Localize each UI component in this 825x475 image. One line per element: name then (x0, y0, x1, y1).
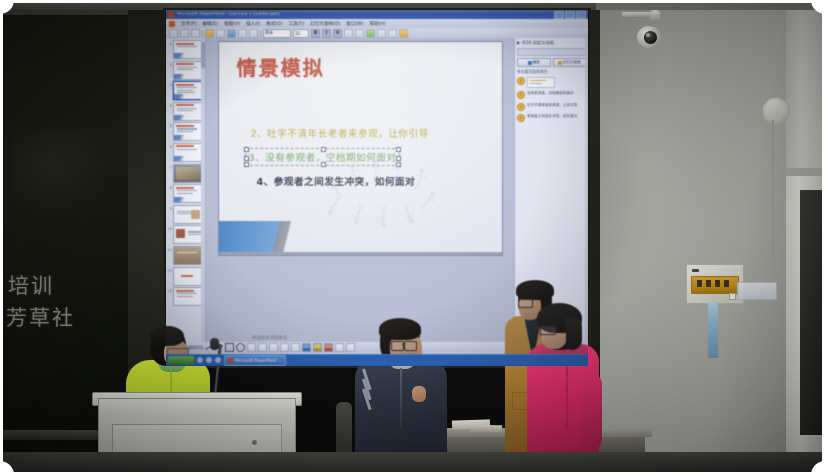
thumbnail-number: 2 (167, 61, 172, 68)
thumbnail-item[interactable]: 6 (167, 143, 204, 162)
thumbnail-item[interactable]: 13 (167, 287, 204, 306)
quicklaunch-media-icon[interactable] (215, 357, 221, 363)
slideshow-button[interactable]: 幻灯片放映 (553, 58, 587, 67)
thumbnail-image[interactable] (173, 184, 203, 203)
thumbnail-item[interactable]: 10 (167, 225, 204, 244)
glasses-icon (391, 341, 404, 351)
save-icon[interactable] (191, 29, 200, 38)
wall-light-strip (737, 282, 777, 300)
current-slide[interactable]: 情景模拟 2、吐字不清年长老者来参观，让你引导 3、没有参观者，空档期如何面对 (218, 41, 503, 256)
person-navy-jacket-zip (400, 368, 402, 428)
camera-mount-arm (622, 12, 652, 17)
play-icon (528, 61, 532, 65)
chart-icon[interactable] (249, 29, 258, 38)
thumbnail-image[interactable] (173, 164, 203, 183)
thumbnail-item[interactable]: 8 (167, 184, 204, 203)
thumbnail-image[interactable] (173, 122, 203, 141)
thumbnail-scrollbar[interactable] (201, 38, 205, 342)
slide-thumbnail-pane[interactable]: 1 2 3 4 5 (166, 38, 206, 342)
thumbnail-image[interactable] (173, 225, 203, 244)
font-size-combo[interactable]: 32 (293, 29, 309, 38)
line-color-icon[interactable] (313, 343, 322, 352)
menu-window[interactable]: 窗口(W) (346, 21, 363, 27)
breaker-switch (697, 280, 702, 287)
person-navy-jacket-hair (379, 318, 421, 340)
thumbnail-number: 10 (167, 225, 172, 232)
thumbnail-number: 11 (167, 246, 172, 253)
task-pane-title: 4/24 自定义动画 (522, 40, 554, 46)
document-icon (169, 21, 175, 27)
thumbnail-item[interactable]: 9 (167, 205, 204, 224)
shadow-style-icon[interactable] (335, 343, 344, 352)
menu-help[interactable]: 帮助(H) (370, 21, 386, 27)
animation-item-text: 吐字不清老者来参观，让你引导 (527, 103, 577, 108)
glasses-icon (540, 326, 556, 335)
print-icon[interactable] (205, 29, 214, 38)
thumbnail-item[interactable]: 3 (167, 81, 204, 100)
speaker-cone (768, 101, 782, 119)
taskbar-window-label: Microsoft PowerPoint ... (235, 358, 282, 363)
classroom-photo: 培训 芳草社 Microsoft PowerPoint - [service 1… (0, 0, 825, 475)
camera-lens-glint (646, 33, 650, 37)
oval-icon[interactable] (236, 343, 245, 352)
person-tan-coat-hair (516, 280, 554, 300)
ppt-window-title: Microsoft PowerPoint - [service 1 Leader… (177, 12, 280, 17)
task-pane-dropdown[interactable] (517, 48, 586, 56)
breaker-switch (706, 280, 711, 287)
table-icon[interactable] (238, 29, 247, 38)
window-controls[interactable] (554, 11, 586, 19)
animation-order-badge: 1 (517, 77, 525, 85)
font-name-combo[interactable]: 黑体 (263, 29, 291, 38)
task-pane-buttons[interactable]: 播放 幻灯片放映 (517, 58, 586, 67)
thumbnail-number: 4 (167, 102, 172, 109)
quicklaunch-ie-icon[interactable] (197, 357, 203, 363)
thumbnail-item[interactable]: 5 (167, 122, 204, 141)
undo-icon[interactable] (216, 29, 225, 38)
clipart-icon[interactable] (280, 343, 289, 352)
thumbnail-image-selected[interactable] (173, 81, 203, 100)
powerpoint-taskbar-icon (228, 358, 233, 363)
new-slide-icon[interactable] (399, 29, 408, 38)
powerpoint-icon (168, 12, 174, 18)
ceiling-strip (596, 0, 825, 10)
thumbnail-image[interactable] (173, 61, 203, 80)
chalk-text-club: 芳草社 (6, 302, 75, 332)
italic-button[interactable]: I (322, 29, 331, 38)
bullet-item-2[interactable]: 2、吐字不清年长老者来参观，让你引导 (251, 126, 485, 140)
animation-item-text: 参观者之间发生冲突，如何面对 (527, 114, 577, 119)
slide-title[interactable]: 情景模拟 (237, 52, 325, 81)
chevron-left-icon[interactable] (517, 41, 520, 45)
glasses-bridge (402, 344, 405, 345)
menu-format[interactable]: 格式(O) (266, 21, 282, 27)
thumbnail-number: 3 (167, 81, 172, 88)
minimize-button[interactable] (554, 11, 564, 19)
person-navy-jacket-hand (412, 386, 426, 402)
animation-order-badge: 2 (517, 91, 525, 99)
thumbnail-number: 12 (167, 267, 172, 274)
thumbnail-number: 7 (167, 164, 172, 171)
toolbar-separator-2 (260, 30, 261, 37)
thumbnail-image[interactable] (173, 205, 203, 224)
bold-button[interactable]: B (311, 29, 320, 38)
doorway (800, 190, 825, 435)
door-frame-header (786, 168, 825, 176)
underline-button[interactable]: U (333, 29, 342, 38)
menu-edit[interactable]: 编辑(E) (202, 21, 218, 27)
panel-lock-icon (729, 293, 736, 300)
wall-cable-cover (708, 302, 718, 358)
textbox-icon[interactable] (247, 343, 256, 352)
thumbnail-image[interactable] (173, 40, 203, 59)
align-center-icon[interactable] (355, 29, 364, 38)
thumbnail-image[interactable] (173, 287, 203, 306)
person-pink-hoodie-arm (582, 374, 602, 450)
thumbnail-image[interactable] (173, 246, 203, 265)
rectangle-icon[interactable] (225, 343, 234, 352)
breaker-switch (715, 280, 720, 287)
animation-list-label: 单击要添加的项目 (517, 69, 586, 75)
resize-handle-tr[interactable] (396, 147, 401, 152)
restore-button[interactable] (565, 11, 575, 19)
play-button-label: 播放 (533, 60, 540, 65)
chalk-text-training: 培训 (8, 270, 54, 300)
menu-view[interactable]: 视图(V) (224, 21, 240, 27)
glasses-icon (404, 341, 417, 351)
menu-insert[interactable]: 插入(I) (246, 21, 260, 27)
picture-icon[interactable] (291, 343, 300, 352)
scrollbar-thumb[interactable] (201, 42, 205, 68)
animation-list-item[interactable]: 2 没有参观者，空档期如何面对 (517, 91, 586, 99)
bullet-list-icon[interactable] (366, 29, 375, 38)
fill-color-icon[interactable] (302, 343, 311, 352)
taskbar-powerpoint-button[interactable]: Microsoft PowerPoint ... (224, 355, 286, 366)
ppt-titlebar: Microsoft PowerPoint - [service 1 Leader… (166, 10, 588, 19)
thumbnail-item[interactable]: 1 (167, 40, 204, 59)
align-left-icon[interactable] (344, 29, 353, 38)
breaker-switch (724, 280, 729, 287)
thumbnail-number: 1 (167, 40, 172, 47)
thumbnail-item[interactable]: 2 (167, 61, 204, 80)
book (470, 425, 502, 433)
slide-editing-area[interactable]: 情景模拟 2、吐字不清年长老者来参观，让你引导 3、没有参观者，空档期如何面对 (206, 38, 514, 342)
animation-list-item[interactable]: 1 (517, 77, 586, 88)
speaker-conduit (772, 120, 774, 255)
person-lime-jacket-hair (150, 326, 184, 346)
blackboard-frame-top (0, 10, 128, 15)
task-pane-scrollbar[interactable] (585, 38, 588, 342)
slide-design-wedge (219, 221, 369, 255)
chalk-smudge (12, 130, 112, 220)
new-icon[interactable] (169, 29, 178, 38)
play-button[interactable]: 播放 (517, 58, 551, 67)
animation-list-item[interactable]: 4 参观者之间发生冲突，如何面对 (517, 114, 586, 122)
animation-item-text: 没有参观者，空档期如何面对 (527, 91, 574, 96)
thumbnail-item[interactable]: 7 (167, 164, 204, 183)
resize-handle-tl[interactable] (244, 147, 249, 152)
quicklaunch-desktop-icon[interactable] (206, 357, 212, 363)
panel-indicator (692, 269, 699, 272)
animation-list-item[interactable]: 3 吐字不清老者来参观，让你引导 (517, 103, 586, 111)
thumbnail-item[interactable]: 4 (167, 102, 204, 121)
start-button[interactable] (168, 356, 194, 365)
animation-order-badge: 3 (517, 103, 525, 111)
close-button[interactable] (576, 11, 586, 19)
resize-handle-ml[interactable] (244, 156, 249, 161)
slideshow-icon (558, 61, 562, 65)
person-pink-hoodie-seam (566, 360, 568, 430)
animation-preview (527, 77, 555, 88)
redo-icon[interactable] (227, 29, 236, 38)
ppt-toolbar[interactable]: 黑体 32 B I U (166, 28, 588, 38)
font-color-icon[interactable] (324, 343, 333, 352)
animation-order-badge: 4 (517, 114, 525, 122)
open-icon[interactable] (180, 29, 189, 38)
slideshow-button-label: 幻灯片放映 (563, 60, 581, 65)
thumbnail-number: 8 (167, 184, 172, 191)
glasses-icon (518, 299, 533, 308)
people-circle-clipart (323, 160, 443, 226)
menu-slideshow[interactable]: 幻灯片放映(D) (310, 21, 340, 27)
toolbar-separator (202, 30, 203, 37)
notes-placeholder[interactable]: 单击此处添加备注 (252, 335, 287, 341)
thumbnail-item[interactable]: 12 (167, 267, 204, 286)
slide-design-bar (219, 252, 502, 255)
menu-file[interactable]: 文件(F) (181, 21, 196, 27)
microphone-icon (210, 338, 219, 350)
thumbnail-number: 6 (167, 143, 172, 150)
floor (0, 452, 825, 475)
camera-mount-joint (650, 10, 660, 22)
person-pink-hoodie-hair-side (566, 318, 582, 350)
ppt-menubar[interactable]: 文件(F) 编辑(E) 视图(V) 插入(I) 格式(O) 工具(T) 幻灯片放… (166, 19, 588, 28)
3d-style-icon[interactable] (346, 343, 355, 352)
thumbnail-image[interactable] (173, 267, 203, 286)
resize-handle-tc[interactable] (321, 147, 326, 152)
thumbnail-image[interactable] (173, 102, 203, 121)
resize-handle-bl[interactable] (244, 162, 249, 167)
task-pane-header[interactable]: 4/24 自定义动画 (517, 40, 586, 46)
menu-tools[interactable]: 工具(T) (289, 21, 305, 27)
increase-font-icon[interactable] (377, 29, 386, 38)
design-icon[interactable] (388, 29, 397, 38)
thumbnail-image[interactable] (173, 143, 203, 162)
thumbnail-number: 9 (167, 205, 172, 212)
wordart-icon[interactable] (258, 343, 267, 352)
blackboard (0, 10, 131, 450)
thumbnail-number: 5 (167, 122, 172, 129)
thumbnail-item[interactable]: 11 (167, 246, 204, 265)
thumbnail-number: 13 (167, 287, 172, 294)
diagram-icon[interactable] (269, 343, 278, 352)
windows-taskbar[interactable]: Microsoft PowerPoint ... (166, 354, 588, 366)
podium-knob (252, 440, 257, 445)
